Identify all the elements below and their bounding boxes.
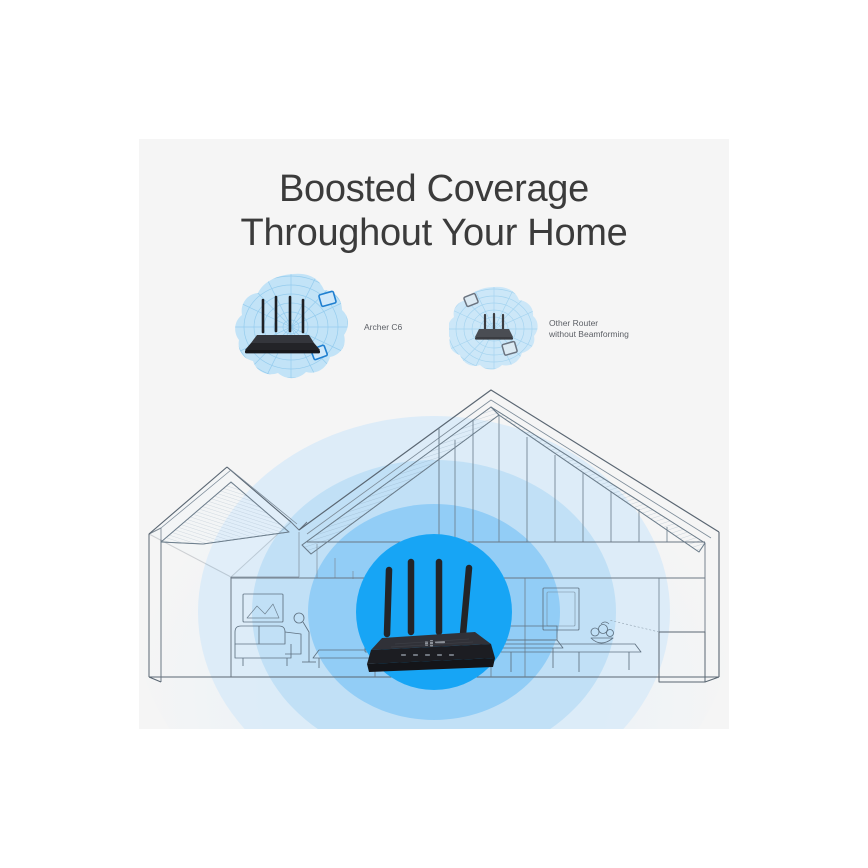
page-title: Boosted Coverage Throughout Your Home (139, 167, 729, 255)
title-line-1: Boosted Coverage (139, 167, 729, 211)
other-router-label: Other Router without Beamforming (549, 318, 629, 340)
router-comparison-row: Archer C6 (139, 269, 729, 384)
house-coverage-scene (139, 382, 729, 729)
archer-c6-label: Archer C6 (364, 322, 402, 333)
other-router-label-line-2: without Beamforming (549, 329, 629, 339)
content-panel: Boosted Coverage Throughout Your Home (139, 139, 729, 729)
comparison-item-archer-c6: Archer C6 (234, 271, 402, 383)
other-router-label-line-1: Other Router (549, 318, 598, 328)
archer-c6-label-line-1: Archer C6 (364, 322, 402, 332)
title-line-2: Throughout Your Home (139, 211, 729, 255)
archer-c6-coverage-blob (234, 271, 352, 383)
other-router-coverage-blob (449, 285, 541, 373)
illustration-stage: Boosted Coverage Throughout Your Home (0, 0, 868, 868)
comparison-item-other-router: Other Router without Beamforming (449, 285, 629, 373)
